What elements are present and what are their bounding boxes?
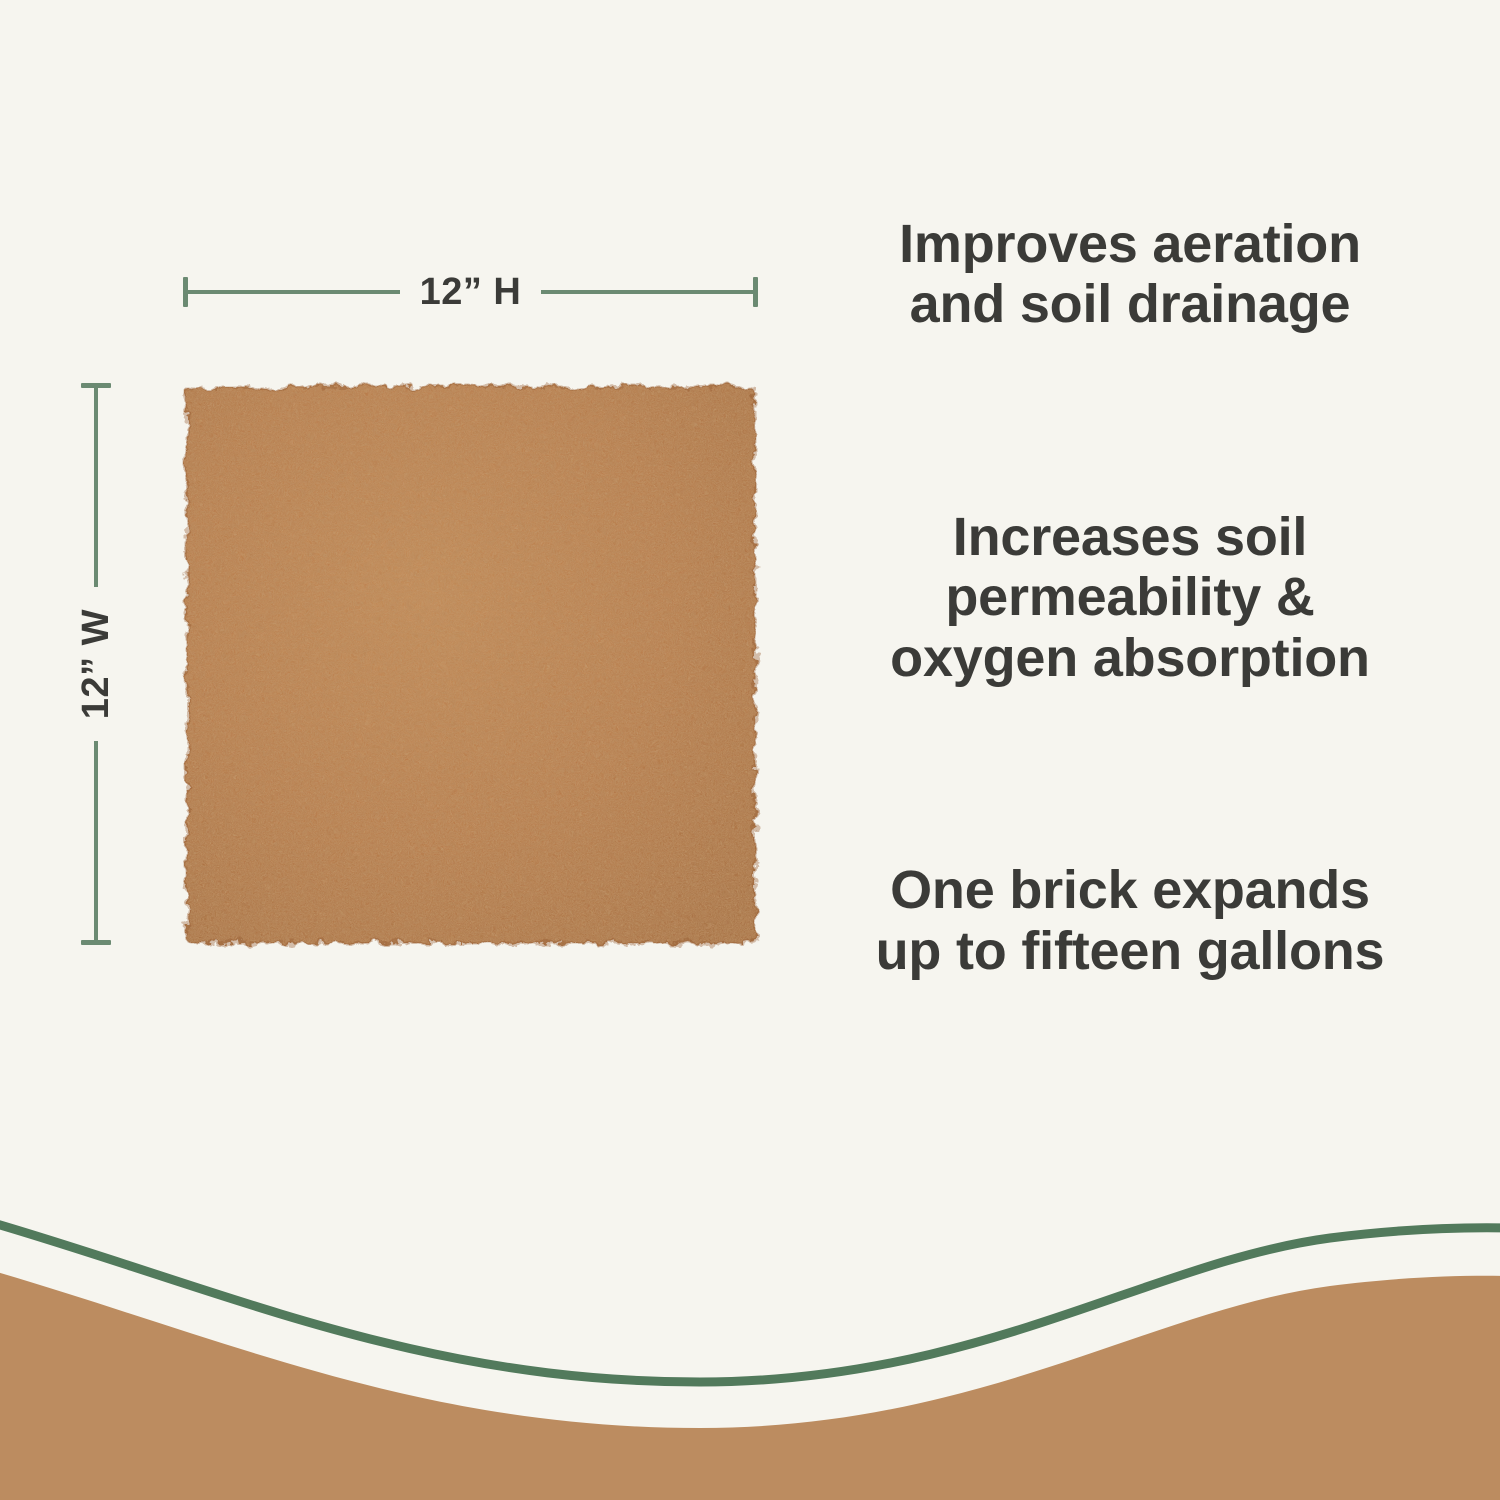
benefit-permeability-oxygen: Increases soil permeability & oxygen abs… [800, 507, 1460, 688]
benefit-line: Increases soil [800, 507, 1460, 567]
dimension-vertical: 12” W [70, 383, 122, 945]
coir-brick-graphic [181, 381, 761, 949]
dimension-end-cap-right [753, 277, 758, 307]
dimension-rule-top [94, 388, 98, 587]
product-infographic: 12” H 12” W Improves aeration and soil d… [0, 0, 1500, 1500]
dimension-rule-left [188, 290, 400, 294]
benefits-list: Improves aeration and soil drainage Incr… [800, 200, 1460, 981]
wave-fill [0, 1270, 1500, 1500]
dimension-rule-right [541, 290, 753, 294]
benefit-line: up to fifteen gallons [800, 921, 1460, 981]
benefit-aeration-drainage: Improves aeration and soil drainage [800, 214, 1460, 335]
dimension-rule-bottom [94, 741, 98, 940]
dimension-horizontal-label: 12” H [400, 273, 542, 311]
benefit-line: permeability & [800, 567, 1460, 627]
benefit-line: Improves aeration [800, 214, 1460, 274]
benefit-expansion-volume: One brick expands up to fifteen gallons [800, 860, 1460, 981]
coir-brick-image [181, 381, 761, 949]
wave-stroke [0, 1222, 1500, 1382]
dimension-end-cap-bottom [81, 940, 111, 945]
benefit-line: and soil drainage [800, 274, 1460, 334]
benefit-line: oxygen absorption [800, 628, 1460, 688]
wave-graphic [0, 1170, 1500, 1500]
dimension-horizontal: 12” H [183, 262, 758, 322]
dimension-vertical-label: 12” W [77, 587, 115, 741]
bottom-wave-decoration [0, 1170, 1500, 1500]
benefit-line: One brick expands [800, 860, 1460, 920]
